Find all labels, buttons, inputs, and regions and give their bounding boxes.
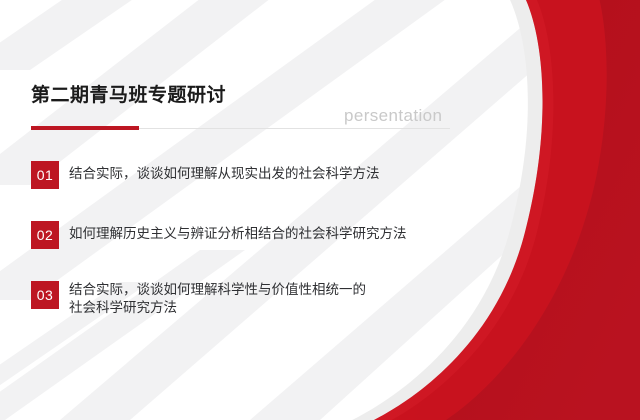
- list-item[interactable]: 03 结合实际，谈谈如何理解科学性与价值性相统一的 社会科学研究方法: [31, 281, 366, 317]
- slide-header: 第二期青马班专题研讨 persentation: [31, 84, 461, 108]
- topic-number-badge: 03: [31, 281, 59, 309]
- presentation-slide: 第二期青马班专题研讨 persentation 01 结合实际，谈谈如何理解从现…: [0, 0, 640, 420]
- list-item[interactable]: 02 如何理解历史主义与辨证分析相结合的社会科学研究方法: [31, 221, 407, 249]
- page-title: 第二期青马班专题研讨: [31, 84, 461, 108]
- topic-text: 如何理解历史主义与辨证分析相结合的社会科学研究方法: [69, 221, 407, 243]
- topic-text: 结合实际，谈谈如何理解科学性与价值性相统一的 社会科学研究方法: [69, 281, 366, 317]
- topic-number-badge: 02: [31, 221, 59, 249]
- topic-text-line: 如何理解历史主义与辨证分析相结合的社会科学研究方法: [69, 225, 407, 243]
- list-item[interactable]: 01 结合实际，谈谈如何理解从现实出发的社会科学方法: [31, 161, 380, 189]
- header-divider-accent: [31, 126, 139, 130]
- topic-text-line: 结合实际，谈谈如何理解科学性与价值性相统一的: [69, 281, 366, 299]
- topic-text-line: 社会科学研究方法: [69, 299, 366, 317]
- topic-text-line: 结合实际，谈谈如何理解从现实出发的社会科学方法: [69, 165, 380, 183]
- topic-text: 结合实际，谈谈如何理解从现实出发的社会科学方法: [69, 161, 380, 183]
- subtitle-label: persentation: [344, 106, 442, 126]
- topic-number-badge: 01: [31, 161, 59, 189]
- slide-background-graphic: [0, 0, 640, 420]
